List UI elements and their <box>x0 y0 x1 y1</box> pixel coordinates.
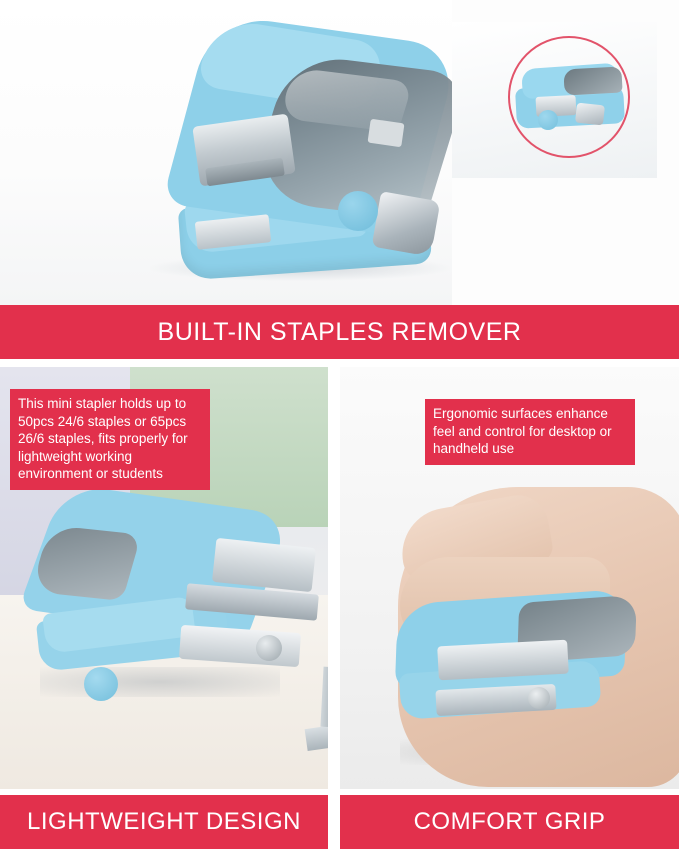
stapler-release-button <box>338 191 378 231</box>
bl-product-shadow <box>40 667 280 697</box>
caption-staples-remover: BUILT-IN STAPLES REMOVER <box>0 305 679 359</box>
panel-comfort-grip: Ergonomic surfaces enhance feel and cont… <box>340 367 679 789</box>
bl-anvil-dial <box>256 635 282 661</box>
caption-comfort-grip: COMFORT GRIP <box>340 795 679 849</box>
callout-lightweight: This mini stapler holds up to 50pcs 24/6… <box>10 389 210 490</box>
divider-horizontal-top <box>0 359 679 367</box>
bl-release-button <box>84 667 118 701</box>
panel-staples-remover <box>0 0 679 305</box>
callout-comfort-grip: Ergonomic surfaces enhance feel and cont… <box>425 399 635 465</box>
inset-detail-photo <box>452 22 657 178</box>
panel-lightweight-design: This mini stapler holds up to 50pcs 24/6… <box>0 367 328 789</box>
stapler-brand-label <box>367 119 404 147</box>
staples-remover-jaw <box>372 191 441 257</box>
br-anvil-dial <box>528 687 550 709</box>
bl-staple-strip <box>305 725 328 751</box>
caption-lightweight-design: LIGHTWEIGHT DESIGN <box>0 795 328 849</box>
product-collage: BUILT-IN STAPLES REMOVER This mini stapl… <box>0 0 679 849</box>
br-metal-mechanism <box>437 640 569 681</box>
divider-vertical <box>328 367 340 849</box>
inset-highlight-circle <box>508 36 630 158</box>
